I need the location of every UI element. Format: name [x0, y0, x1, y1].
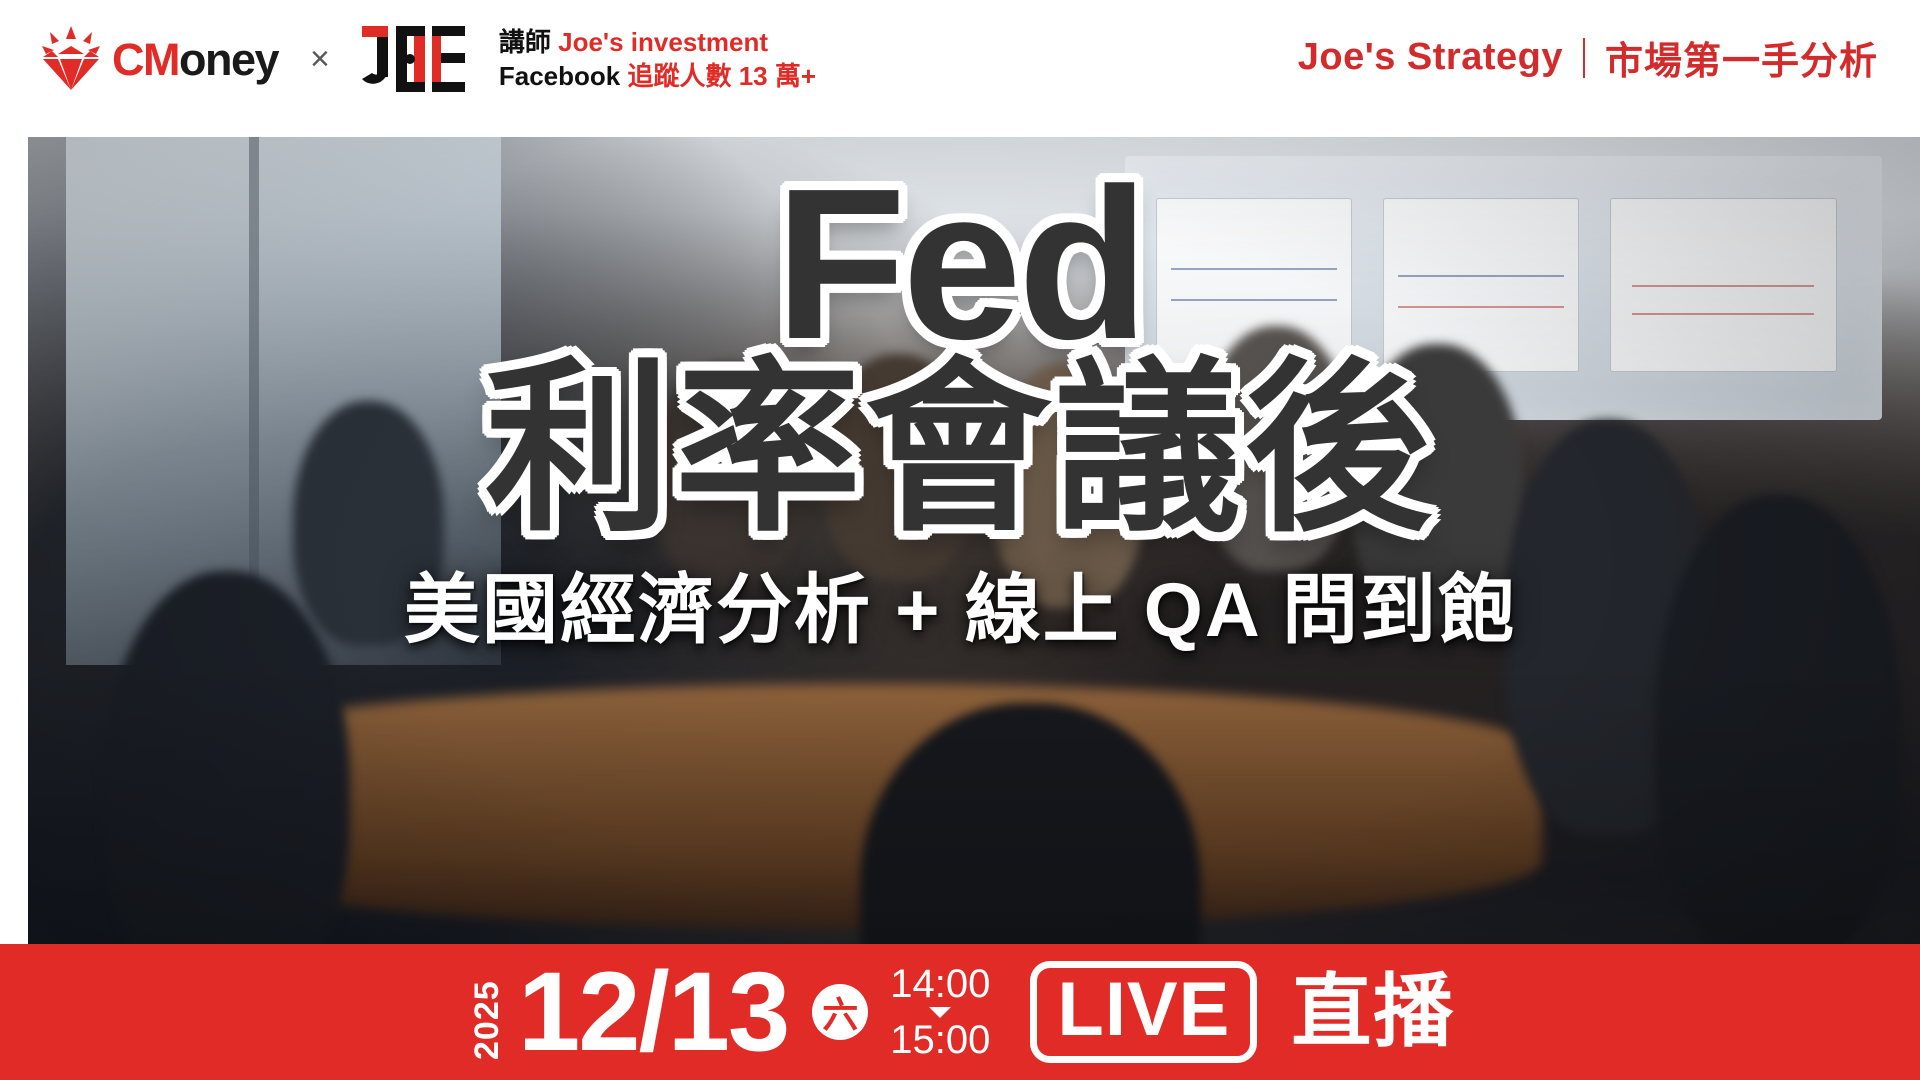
tagline-en: Joe's Strategy — [1298, 36, 1563, 79]
time-start: 14:00 — [890, 964, 990, 1005]
cmoney-wordmark-black: oney — [179, 34, 278, 85]
partner-line1-value: Joe's investment — [558, 27, 768, 57]
hero-subtitle: 美國經濟分析 + 線上 QA 問到飽 — [404, 569, 1516, 653]
stream-label: 直播 — [1291, 972, 1455, 1052]
header-bar: CMoney × — [0, 0, 1920, 137]
cmoney-logo[interactable]: CMoney — [40, 26, 278, 92]
event-date: 12/13 — [518, 956, 788, 1068]
tagline-divider — [1583, 38, 1585, 78]
hero-title-cn: 利率會議後 — [485, 357, 1435, 543]
partner-line2-value: 追蹤人數 13 萬+ — [627, 61, 816, 91]
live-label: LIVE — [1057, 967, 1230, 1052]
hero-titles: Fed 利率會議後 美國經濟分析 + 線上 QA 問到飽 — [0, 137, 1920, 967]
partner-line1-label: 講師 — [499, 27, 551, 57]
header-tagline: Joe's Strategy 市場第一手分析 — [1298, 30, 1878, 85]
partner-text: 講師 Joe's investment Facebook 追蹤人數 13 萬+ — [499, 26, 816, 93]
caret-down-icon — [929, 1007, 951, 1018]
tagline-cn: 市場第一手分析 — [1605, 30, 1878, 85]
event-year: 2025 — [470, 964, 504, 1060]
partner-line-1: 講師 Joe's investment — [499, 26, 816, 59]
partner-line2-label: Facebook — [499, 61, 620, 91]
time-end: 15:00 — [890, 1020, 990, 1061]
diamond-gem-icon — [40, 26, 102, 92]
cross-icon: × — [310, 42, 330, 76]
live-badge: LIVE — [1030, 961, 1257, 1063]
cmoney-wordmark-red: CM — [112, 34, 179, 85]
weekday-badge: 六 — [812, 984, 868, 1040]
hero-title-en: Fed — [775, 161, 1145, 367]
footer-content: 2025 12/13 六 14:00 15:00 LIVE 直播 — [0, 944, 1920, 1080]
brand-group: CMoney × — [40, 24, 816, 94]
partner-line-2: Facebook 追蹤人數 13 萬+ — [499, 60, 816, 93]
event-time-range: 14:00 15:00 — [890, 964, 990, 1061]
joe-logo[interactable] — [362, 24, 467, 94]
promo-banner: CMoney × — [0, 0, 1920, 1080]
cmoney-wordmark: CMoney — [112, 37, 278, 82]
